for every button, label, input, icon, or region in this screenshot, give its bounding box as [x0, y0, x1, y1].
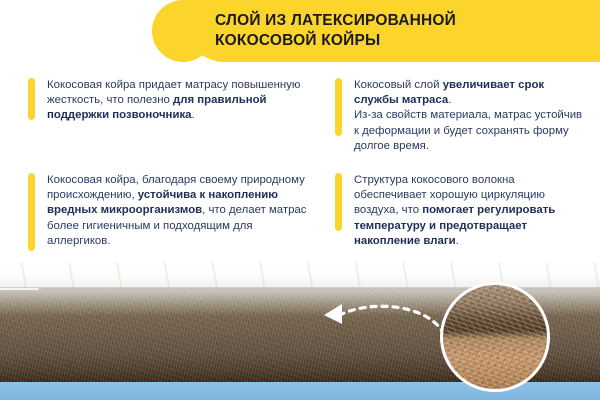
accent-bar-icon: [28, 173, 35, 251]
accent-bar-icon: [28, 78, 35, 120]
fact-text: Кокосовый слой увеличивает срок службы м…: [354, 78, 590, 154]
accent-bar-icon: [335, 78, 342, 136]
callout-arrow-icon: [320, 300, 450, 340]
mattress-cross-section-image: [0, 262, 600, 400]
fact-card-airflow: Структура кокосового волокна обеспечивае…: [335, 173, 590, 249]
fact-card-rigidity: Кокосовая койра придает матрасу повышенн…: [28, 78, 308, 124]
infographic-page: СЛОЙ ИЗ ЛАТЕКСИРОВАННОЙ КОКОСОВОЙ КОЙРЫ …: [0, 0, 600, 400]
accent-bar-icon: [335, 173, 342, 231]
fact-text: Кокосовая койра придает матрасу повышенн…: [47, 78, 308, 124]
page-title: СЛОЙ ИЗ ЛАТЕКСИРОВАННОЙ КОКОСОВОЙ КОЙРЫ: [215, 11, 585, 51]
fact-text: Структура кокосового волокна обеспечивае…: [354, 173, 590, 249]
facts-grid: Кокосовая койра придает матрасу повышенн…: [0, 70, 600, 270]
coir-fiber-closeup-inset: [440, 282, 550, 392]
fact-card-hygiene: Кокосовая койра, благодаря своему природ…: [28, 173, 310, 251]
fact-card-durability: Кокосовый слой увеличивает срок службы м…: [335, 78, 590, 154]
fact-text: Кокосовая койра, благодаря своему природ…: [47, 173, 310, 249]
